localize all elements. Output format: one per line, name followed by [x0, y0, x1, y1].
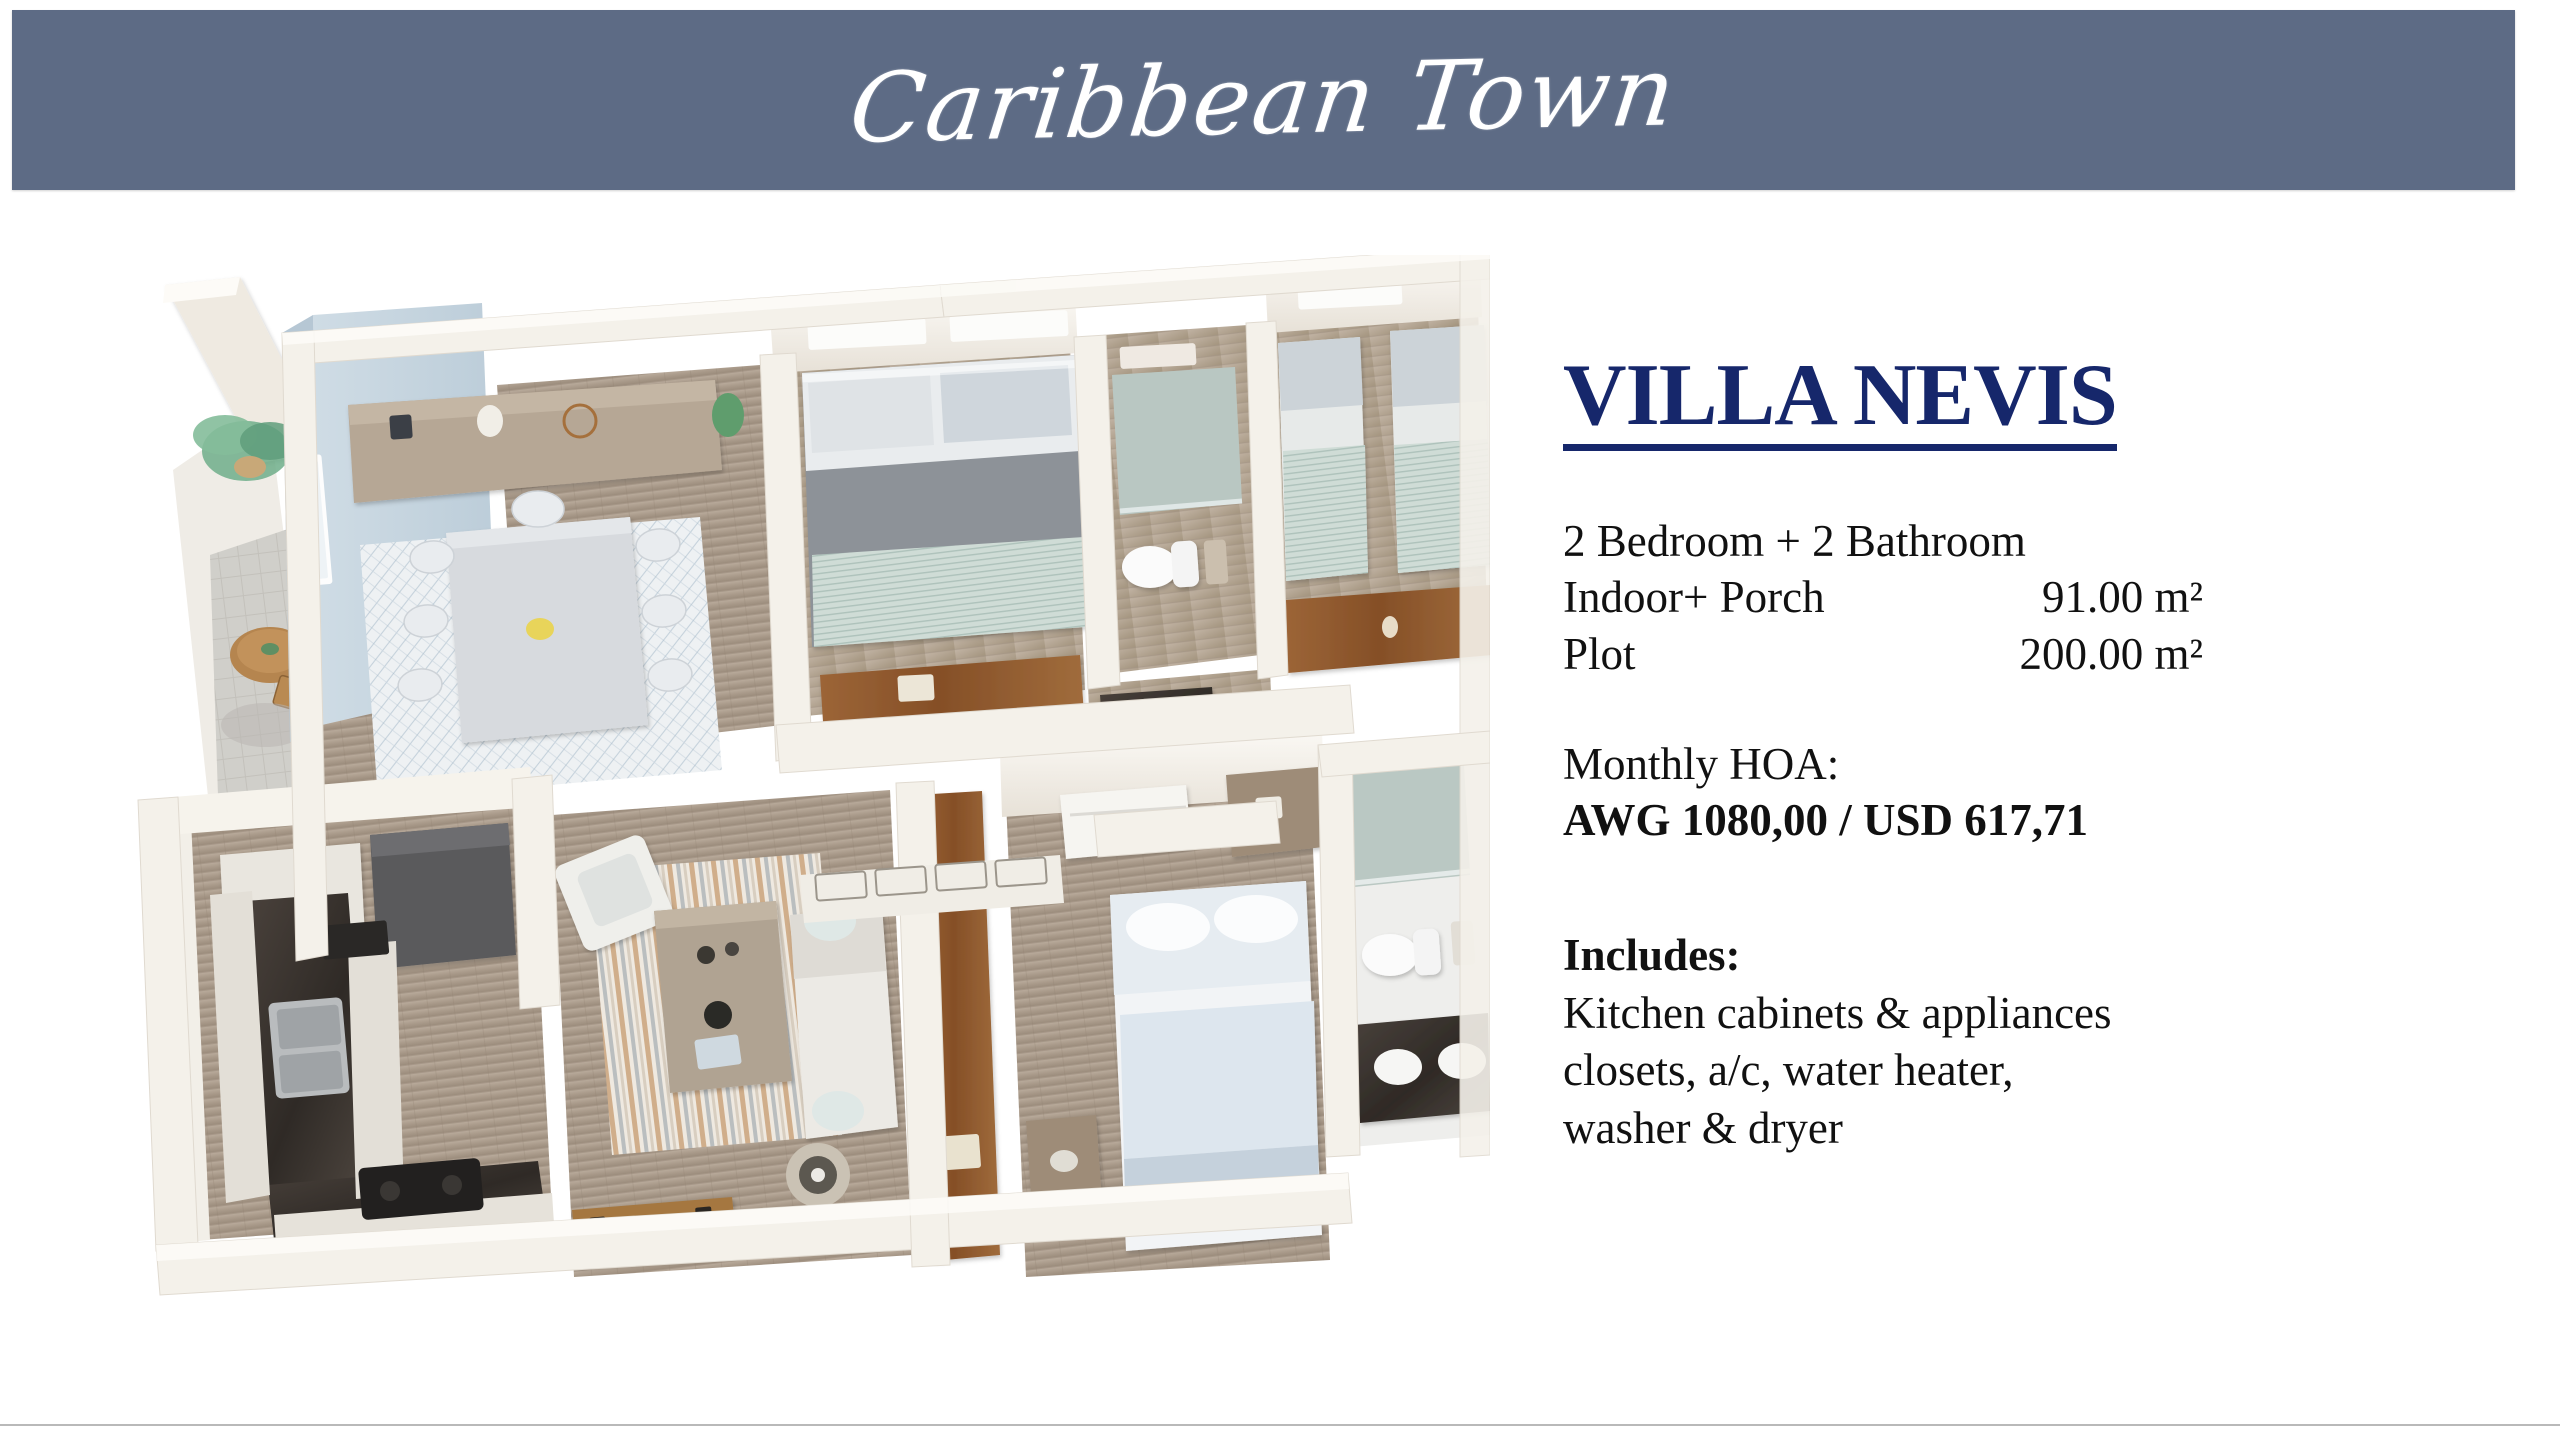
master-bed	[802, 355, 1086, 647]
hoa-label: Monthly HOA:	[1563, 736, 2523, 792]
includes-line-2: closets, a/c, water heater,	[1563, 1042, 2523, 1100]
spec-value-plot: 200.00 m²	[2020, 626, 2204, 682]
spec-value-indoor: 91.00 m²	[2042, 569, 2203, 625]
spec-label-indoor: Indoor+ Porch	[1563, 569, 1825, 625]
spec-row-indoor: Indoor+ Porch 91.00 m²	[1563, 569, 2203, 625]
hoa-block: Monthly HOA: AWG 1080,00 / USD 617,71	[1563, 736, 2523, 849]
page-title: VILLA NEVIS	[1563, 352, 2117, 451]
room-master-bedroom	[770, 295, 1086, 737]
site-banner: Caribbean Town	[12, 10, 2515, 190]
hoa-amount: AWG 1080,00 / USD 617,71	[1563, 792, 2523, 848]
living-coffee-table	[654, 901, 792, 1093]
includes-line-1: Kitchen cabinets & appliances	[1563, 985, 2523, 1043]
includes-block: Includes: Kitchen cabinets & appliances …	[1563, 926, 2523, 1157]
kitchen-cooktop	[358, 1158, 484, 1220]
living-sofa	[790, 901, 898, 1139]
includes-title: Includes:	[1563, 926, 2523, 985]
listing-page: Caribbean Town	[0, 0, 2560, 1429]
room-bathroom-one	[1103, 325, 1260, 673]
spec-configuration: 2 Bedroom + 2 Bathroom	[1563, 513, 2523, 569]
spec-row-plot: Plot 200.00 m²	[1563, 626, 2203, 682]
floorplan-image	[60, 255, 1490, 1320]
footer-divider	[0, 1424, 2560, 1426]
twin-bed-a	[1278, 337, 1368, 581]
includes-line-3: washer & dryer	[1563, 1100, 2523, 1158]
floorplan-svg	[60, 255, 1490, 1320]
room-bedroom-two	[1265, 260, 1490, 673]
spec-list: 2 Bedroom + 2 Bathroom Indoor+ Porch 91.…	[1563, 513, 2523, 682]
spec-label-plot: Plot	[1563, 626, 1636, 682]
listing-details: VILLA NEVIS 2 Bedroom + 2 Bathroom Indoo…	[1563, 352, 2523, 1158]
room-kitchen	[138, 767, 556, 1273]
brand-wordmark: Caribbean Town	[844, 35, 1683, 164]
living-pouf	[786, 1143, 850, 1207]
kitchen-sink	[268, 997, 350, 1099]
